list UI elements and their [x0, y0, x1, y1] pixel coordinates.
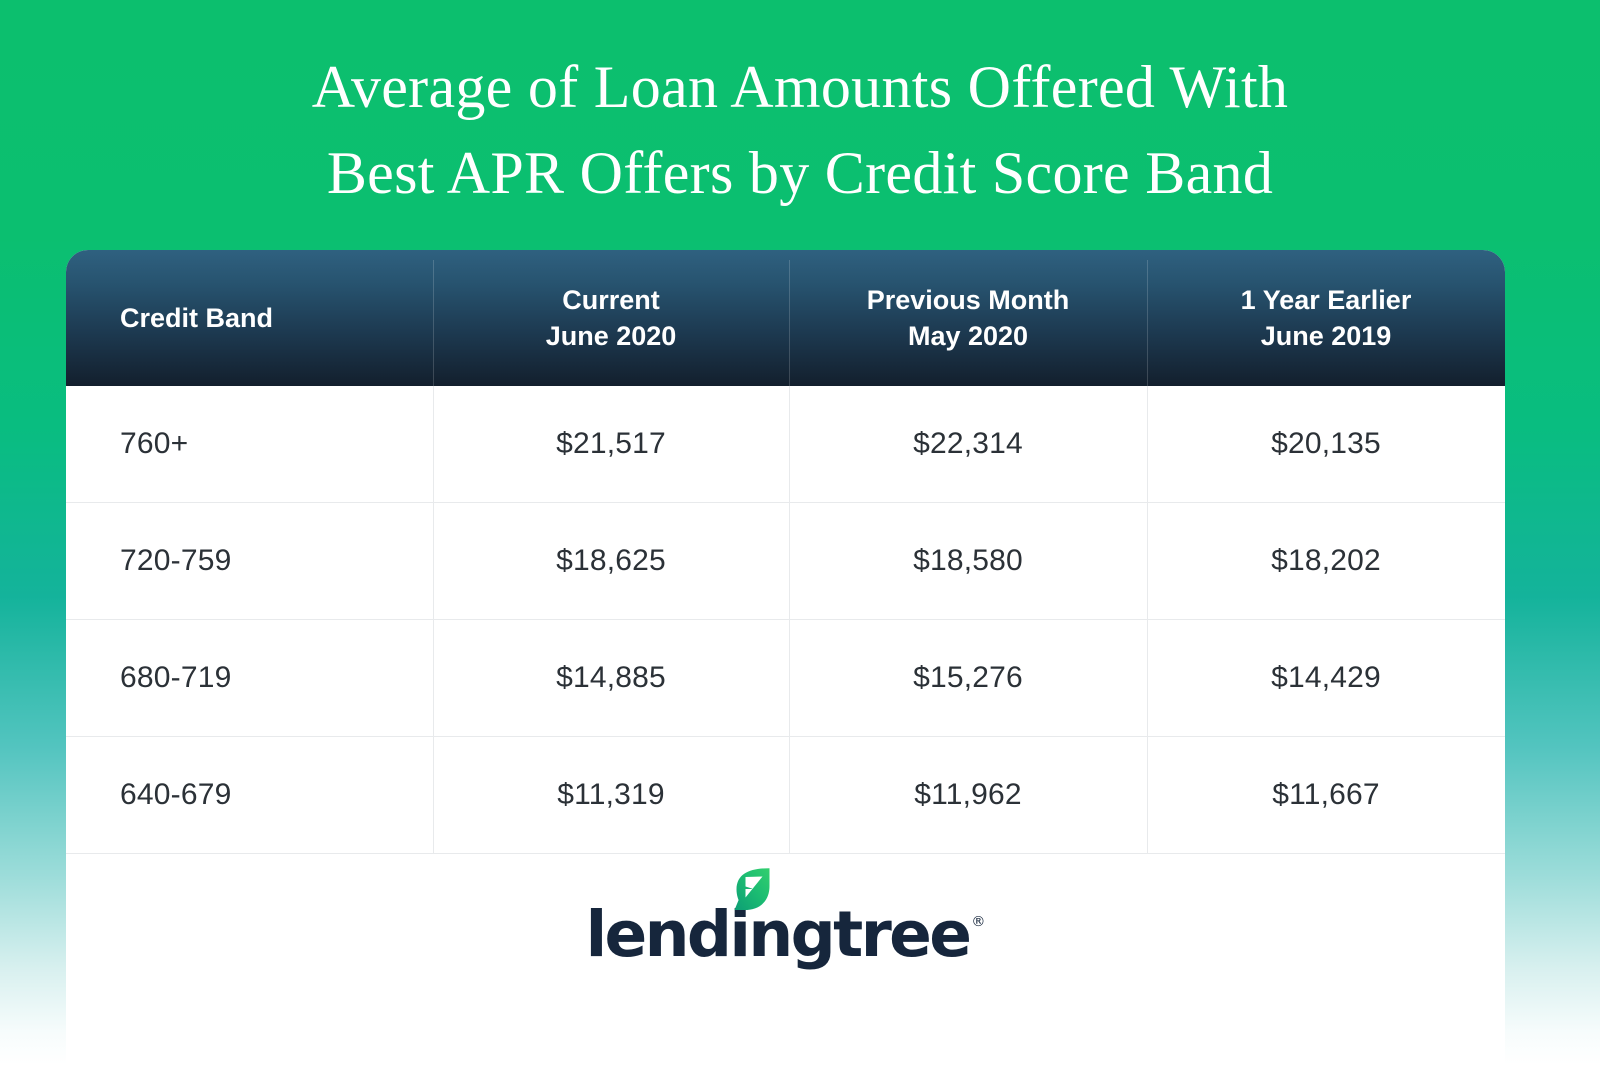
table-footer: lendingtree ®	[66, 854, 1505, 1014]
cell-year-earlier: $20,135	[1147, 386, 1505, 502]
cell-current: $18,625	[433, 503, 789, 619]
cell-previous-month: $22,314	[789, 386, 1147, 502]
logo-wordmark: lendingtree	[586, 903, 970, 966]
page-title-line-2: Best APR Offers by Credit Score Band	[120, 130, 1480, 216]
cell-credit-band: 760+	[66, 386, 433, 502]
table-row: 680-719 $14,885 $15,276 $14,429	[66, 620, 1505, 737]
column-header-credit-band: Credit Band	[66, 250, 433, 386]
column-header-current: Current June 2020	[433, 250, 789, 386]
table-body: 760+ $21,517 $22,314 $20,135 720-759 $18…	[66, 386, 1505, 854]
leaf-icon	[732, 867, 772, 911]
table-row: 720-759 $18,625 $18,580 $18,202	[66, 503, 1505, 620]
cell-current: $21,517	[433, 386, 789, 502]
cell-previous-month: $15,276	[789, 620, 1147, 736]
cell-current: $14,885	[433, 620, 789, 736]
column-header-previous-month: Previous Month May 2020	[789, 250, 1147, 386]
column-header-current-main: Current	[433, 282, 789, 318]
column-header-previous-month-sub: May 2020	[789, 318, 1147, 354]
table-row: 760+ $21,517 $22,314 $20,135	[66, 386, 1505, 503]
page-title-line-1: Average of Loan Amounts Offered With	[120, 44, 1480, 130]
cell-credit-band: 720-759	[66, 503, 433, 619]
column-header-credit-band-main: Credit Band	[120, 300, 273, 336]
column-header-previous-month-main: Previous Month	[789, 282, 1147, 318]
cell-current: $11,319	[433, 737, 789, 853]
cell-year-earlier: $11,667	[1147, 737, 1505, 853]
cell-previous-month: $11,962	[789, 737, 1147, 853]
cell-credit-band: 640-679	[66, 737, 433, 853]
table-header-row: Credit Band Current June 2020 Previous M…	[66, 250, 1505, 386]
data-table-card: Credit Band Current June 2020 Previous M…	[66, 250, 1505, 1065]
cell-previous-month: $18,580	[789, 503, 1147, 619]
column-header-current-sub: June 2020	[433, 318, 789, 354]
column-header-year-earlier-sub: June 2019	[1147, 318, 1505, 354]
column-header-year-earlier-main: 1 Year Earlier	[1147, 282, 1505, 318]
column-header-year-earlier: 1 Year Earlier June 2019	[1147, 250, 1505, 386]
lendingtree-logo: lendingtree ®	[586, 903, 986, 966]
page-title: Average of Loan Amounts Offered With Bes…	[0, 44, 1600, 216]
cell-year-earlier: $14,429	[1147, 620, 1505, 736]
cell-credit-band: 680-719	[66, 620, 433, 736]
table-row: 640-679 $11,319 $11,962 $11,667	[66, 737, 1505, 854]
registered-trademark-symbol: ®	[971, 914, 985, 930]
cell-year-earlier: $18,202	[1147, 503, 1505, 619]
